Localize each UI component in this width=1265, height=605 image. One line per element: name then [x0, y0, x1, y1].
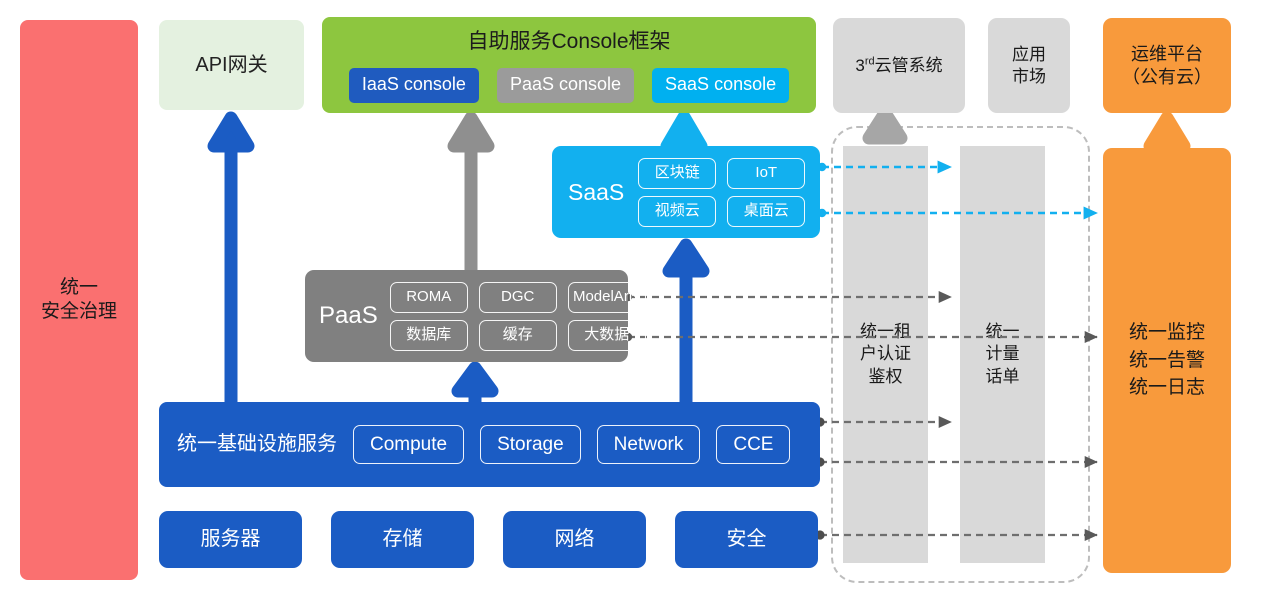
third-party-sup: rd: [865, 55, 875, 67]
ops-side-line1: 统一监控: [1129, 319, 1205, 347]
paas-service-database[interactable]: 数据库: [390, 320, 468, 351]
mid-col-0-line1: 统一租: [860, 321, 911, 343]
saas-service-iot[interactable]: IoT: [727, 158, 805, 189]
middle-column-metering-billing: 统一 计量 话单: [960, 146, 1045, 563]
security-panel-line2: 安全治理: [41, 300, 117, 324]
infra-service-cce[interactable]: CCE: [716, 425, 790, 465]
paas-service-bigdata[interactable]: 大数据: [568, 320, 646, 351]
infra-label: 统一基础设施服务: [177, 432, 337, 457]
third-party-suffix: 云管系统: [875, 56, 943, 75]
security-governance-panel[interactable]: 统一 安全治理: [20, 20, 138, 580]
ops-top-line1: 运维平台: [1122, 43, 1212, 66]
ops-top-line2: （公有云）: [1122, 66, 1212, 89]
mid-col-1-line1: 统一: [986, 321, 1020, 343]
architecture-diagram: 统一租 户认证 鉴权 统一 计量 话单: [0, 0, 1265, 605]
saas-service-blockchain[interactable]: 区块链: [638, 158, 716, 189]
ops-side-line3: 统一日志: [1129, 374, 1205, 402]
paas-service-roma[interactable]: ROMA: [390, 282, 468, 313]
ops-platform-public-cloud-box[interactable]: 运维平台 （公有云）: [1103, 18, 1231, 113]
third-party-prefix: 3: [855, 56, 864, 75]
saas-service-video-cloud[interactable]: 视频云: [638, 196, 716, 227]
resource-box-storage[interactable]: 存储: [331, 511, 474, 568]
paas-label: PaaS: [319, 301, 378, 331]
resource-box-security[interactable]: 安全: [675, 511, 818, 568]
api-gateway-label: API网关: [195, 53, 267, 78]
console-chip-saas[interactable]: SaaS console: [652, 68, 789, 103]
arrow-infra-to-paas: [458, 368, 492, 405]
mid-col-0-line2: 户认证: [860, 343, 911, 365]
app-market-line2: 市场: [1012, 66, 1046, 87]
self-service-console-frame[interactable]: 自助服务Console框架 IaaS console PaaS console …: [322, 17, 816, 113]
ops-side-line2: 统一告警: [1129, 347, 1205, 375]
arrow-infra-to-saas: [669, 245, 703, 405]
saas-service-desktop-cloud[interactable]: 桌面云: [727, 196, 805, 227]
console-chip-paas[interactable]: PaaS console: [497, 68, 634, 103]
api-gateway-box[interactable]: API网关: [159, 20, 304, 110]
resource-label-server: 服务器: [201, 527, 261, 552]
arrow-infra-to-api-gateway: [214, 118, 248, 405]
app-market-box[interactable]: 应用 市场: [988, 18, 1070, 113]
saas-block[interactable]: SaaS 区块链 IoT 视频云 桌面云: [552, 146, 820, 238]
infra-service-network[interactable]: Network: [597, 425, 701, 465]
resource-label-storage: 存储: [383, 527, 423, 552]
arrow-paas-to-console: [454, 118, 488, 272]
mid-col-1-line2: 计量: [986, 343, 1020, 365]
resource-box-network[interactable]: 网络: [503, 511, 646, 568]
unified-ops-side-panel[interactable]: 统一监控 统一告警 统一日志: [1103, 148, 1231, 573]
paas-service-dgc[interactable]: DGC: [479, 282, 557, 313]
saas-label: SaaS: [568, 178, 624, 207]
arrow-ops-side-to-ops-top: [1150, 118, 1184, 150]
app-market-line1: 应用: [1012, 44, 1046, 65]
saas-service-grid: 区块链 IoT 视频云 桌面云: [638, 158, 805, 227]
console-chip-iaas[interactable]: IaaS console: [349, 68, 479, 103]
console-frame-title: 自助服务Console框架: [467, 29, 670, 55]
paas-service-grid: ROMA DGC ModelArts 数据库 缓存 大数据: [390, 282, 646, 351]
paas-service-modelarts[interactable]: ModelArts: [568, 282, 646, 313]
console-chip-row: IaaS console PaaS console SaaS console: [349, 68, 789, 103]
resource-label-security: 安全: [727, 527, 767, 552]
resource-label-network: 网络: [555, 527, 595, 552]
security-panel-line1: 统一: [41, 276, 117, 300]
infra-service-storage[interactable]: Storage: [480, 425, 581, 465]
mid-col-1-line3: 话单: [986, 366, 1020, 388]
arrow-saas-to-console: [667, 117, 701, 148]
third-party-cloud-management-box[interactable]: 3rd云管系统: [833, 18, 965, 113]
resource-box-server[interactable]: 服务器: [159, 511, 302, 568]
mid-col-0-line3: 鉴权: [860, 366, 911, 388]
unified-infrastructure-service-bar[interactable]: 统一基础设施服务 Compute Storage Network CCE: [159, 402, 820, 487]
infra-service-compute[interactable]: Compute: [353, 425, 464, 465]
third-party-label: 3rd云管系统: [855, 55, 942, 76]
middle-column-tenant-auth: 统一租 户认证 鉴权: [843, 146, 928, 563]
paas-block[interactable]: PaaS ROMA DGC ModelArts 数据库 缓存 大数据: [305, 270, 628, 362]
paas-service-cache[interactable]: 缓存: [479, 320, 557, 351]
